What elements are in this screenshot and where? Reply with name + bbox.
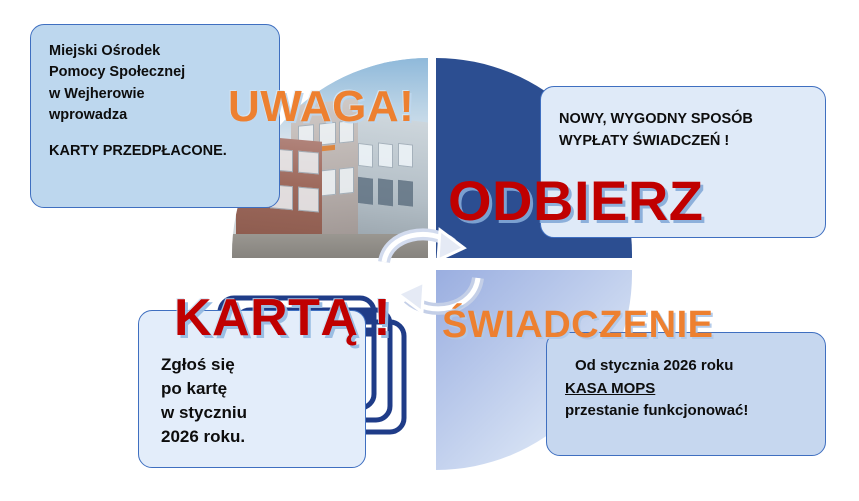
headline-uwaga: UWAGA!	[228, 82, 414, 132]
intro-line-1: Miejski Ośrodek	[49, 41, 261, 62]
cash-line-1: Od stycznia 2026 roku	[565, 355, 807, 378]
apply-line-4: 2026 roku.	[161, 425, 345, 449]
cash-line-2: KASA MOPS	[565, 378, 655, 401]
photo-ground	[232, 234, 428, 258]
cash-line-3: przestanie funkcjonować!	[565, 400, 807, 423]
headline-karta: KARTĄ !	[174, 288, 391, 348]
apply-line-3: w styczniu	[161, 401, 345, 425]
intro-line-2: Pomocy Społecznej	[49, 62, 261, 83]
poster-canvas: Miejski Ośrodek Pomocy Społecznej w Wejh…	[0, 0, 859, 501]
apply-line-1: Zgłoś się	[161, 353, 345, 377]
apply-line-2: po kartę	[161, 377, 345, 401]
new-method-line-1: NOWY, WYGODNY SPOSÓB	[559, 109, 807, 131]
headline-swiadczenie: ŚWIADCZENIE	[442, 304, 714, 347]
headline-odbierz: ODBIERZ	[448, 168, 704, 233]
intro-line-5: KARTY PRZEDPŁACONE.	[49, 141, 261, 162]
cash-desk-textbox: Od stycznia 2026 roku KASA MOPS przestan…	[546, 332, 826, 456]
new-method-line-2: WYPŁATY ŚWIADCZEŃ !	[559, 131, 807, 153]
